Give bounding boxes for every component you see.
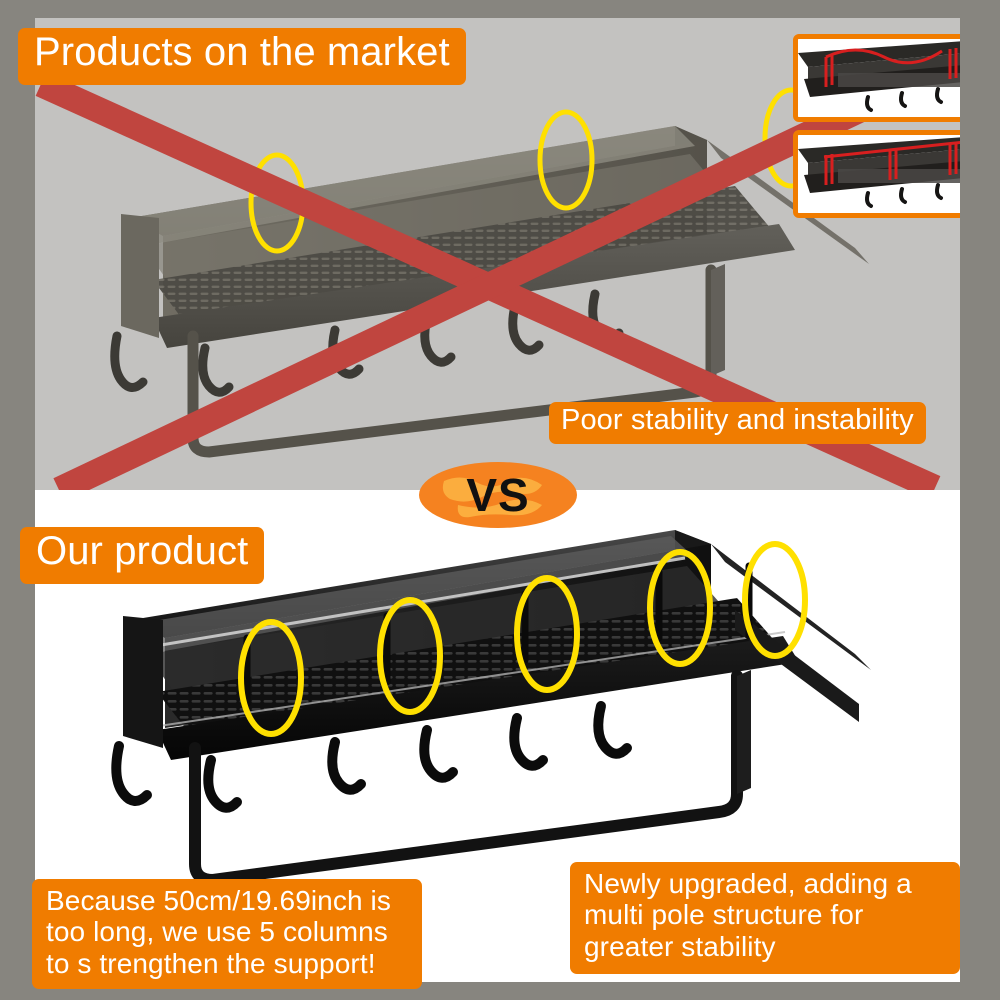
upgrade-benefit-caption: Newly upgraded, adding a multi pole stru… bbox=[570, 862, 960, 974]
infographic-root: VS Products on the market Poor stability… bbox=[0, 0, 1000, 1000]
inset-deformed-shelf[interactable] bbox=[793, 34, 960, 122]
inset-reinforced-shelf[interactable] bbox=[793, 130, 960, 218]
top-section-title: Products on the market bbox=[18, 28, 466, 85]
vs-label: VS bbox=[418, 461, 578, 529]
inset-thumbnail-group bbox=[793, 34, 960, 220]
poor-stability-caption: Poor stability and instability bbox=[549, 402, 926, 444]
deformed-shelf-illustration bbox=[798, 39, 960, 117]
bottom-section-title: Our product bbox=[20, 527, 264, 584]
reinforced-shelf-illustration bbox=[798, 135, 960, 213]
columns-explanation-caption: Because 50cm/19.69inch is too long, we u… bbox=[32, 879, 422, 989]
vs-badge: VS bbox=[418, 461, 578, 529]
